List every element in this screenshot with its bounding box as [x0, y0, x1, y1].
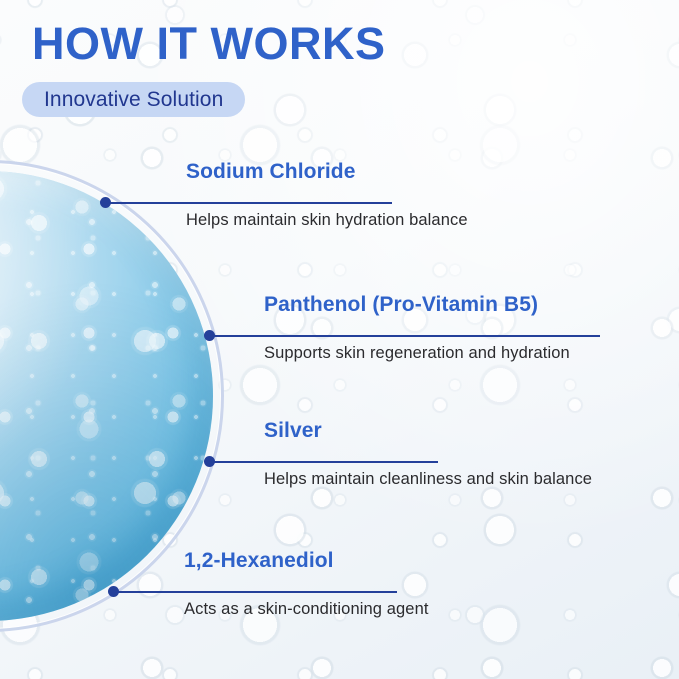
callout-description: Helps maintain skin hydration balance [186, 211, 468, 230]
connector-line [114, 591, 397, 593]
callout-description: Helps maintain cleanliness and skin bala… [264, 470, 592, 489]
connector-line [106, 202, 392, 204]
subtitle-badge: Innovative Solution [22, 82, 245, 117]
callout-description: Acts as a skin-conditioning agent [184, 600, 429, 619]
callout-title: 1,2-Hexanediol [184, 549, 334, 573]
page-title: HOW IT WORKS [32, 20, 385, 69]
callout-title: Sodium Chloride [186, 160, 356, 184]
subtitle-badge-label: Innovative Solution [44, 88, 223, 112]
infographic-canvas: HOW IT WORKS Innovative Solution Sodium … [0, 0, 679, 679]
callout-description: Supports skin regeneration and hydration [264, 344, 570, 363]
connector-line [210, 335, 600, 337]
callout-title: Panthenol (Pro-Vitamin B5) [264, 293, 538, 317]
connector-line [210, 461, 438, 463]
gel-sphere-core [0, 171, 213, 621]
callout-title: Silver [264, 419, 322, 443]
